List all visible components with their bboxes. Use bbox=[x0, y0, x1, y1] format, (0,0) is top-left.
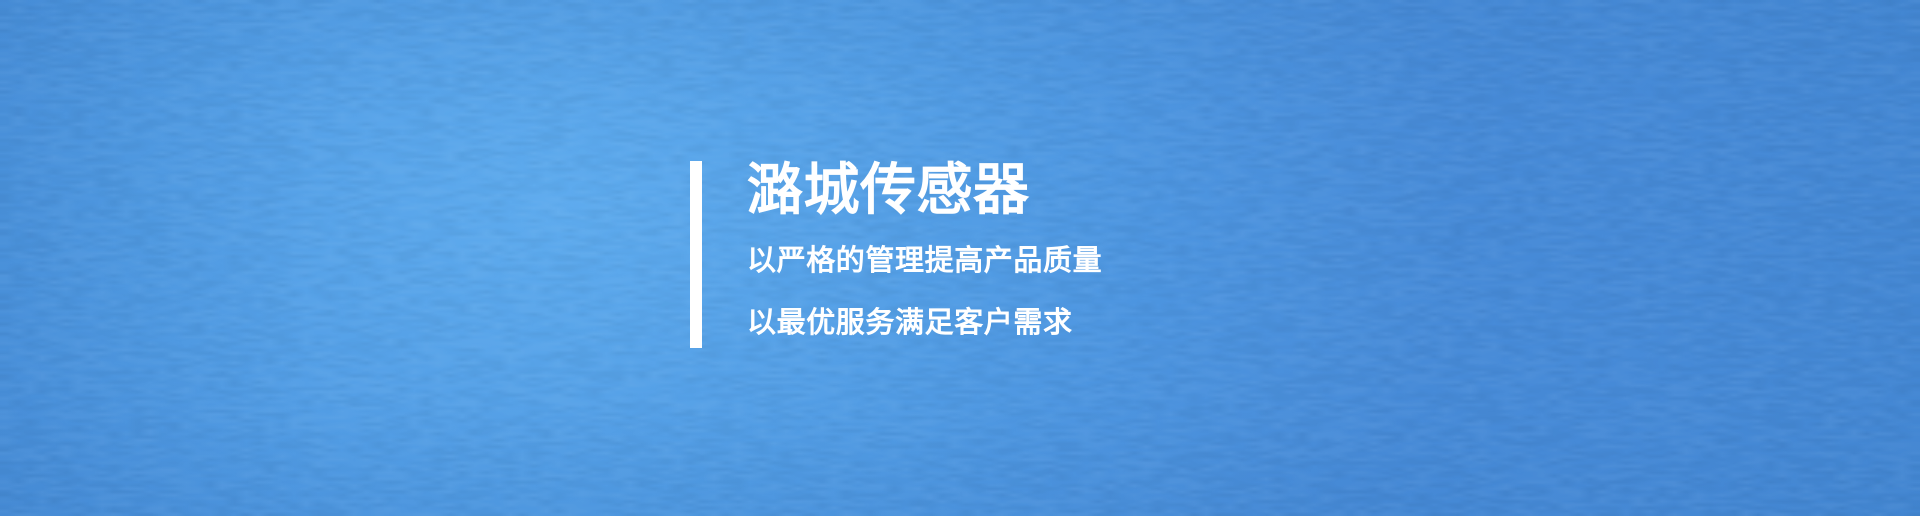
banner-subtitle-list: 以严格的管理提高产品质量 以最优服务满足客户需求 bbox=[747, 247, 1102, 338]
banner-title: 潞城传感器 bbox=[747, 161, 1102, 219]
banner-subtitle-line-2: 以最优服务满足客户需求 bbox=[747, 309, 1102, 338]
banner-subtitle-line-1: 以严格的管理提高产品质量 bbox=[747, 247, 1102, 276]
vertical-accent-bar bbox=[690, 161, 702, 348]
banner-text-block: 潞城传感器 以严格的管理提高产品质量 以最优服务满足客户需求 bbox=[747, 161, 1102, 338]
hero-banner: 潞城传感器 以严格的管理提高产品质量 以最优服务满足客户需求 bbox=[0, 0, 1920, 516]
banner-content: 潞城传感器 以严格的管理提高产品质量 以最优服务满足客户需求 bbox=[690, 161, 1102, 348]
